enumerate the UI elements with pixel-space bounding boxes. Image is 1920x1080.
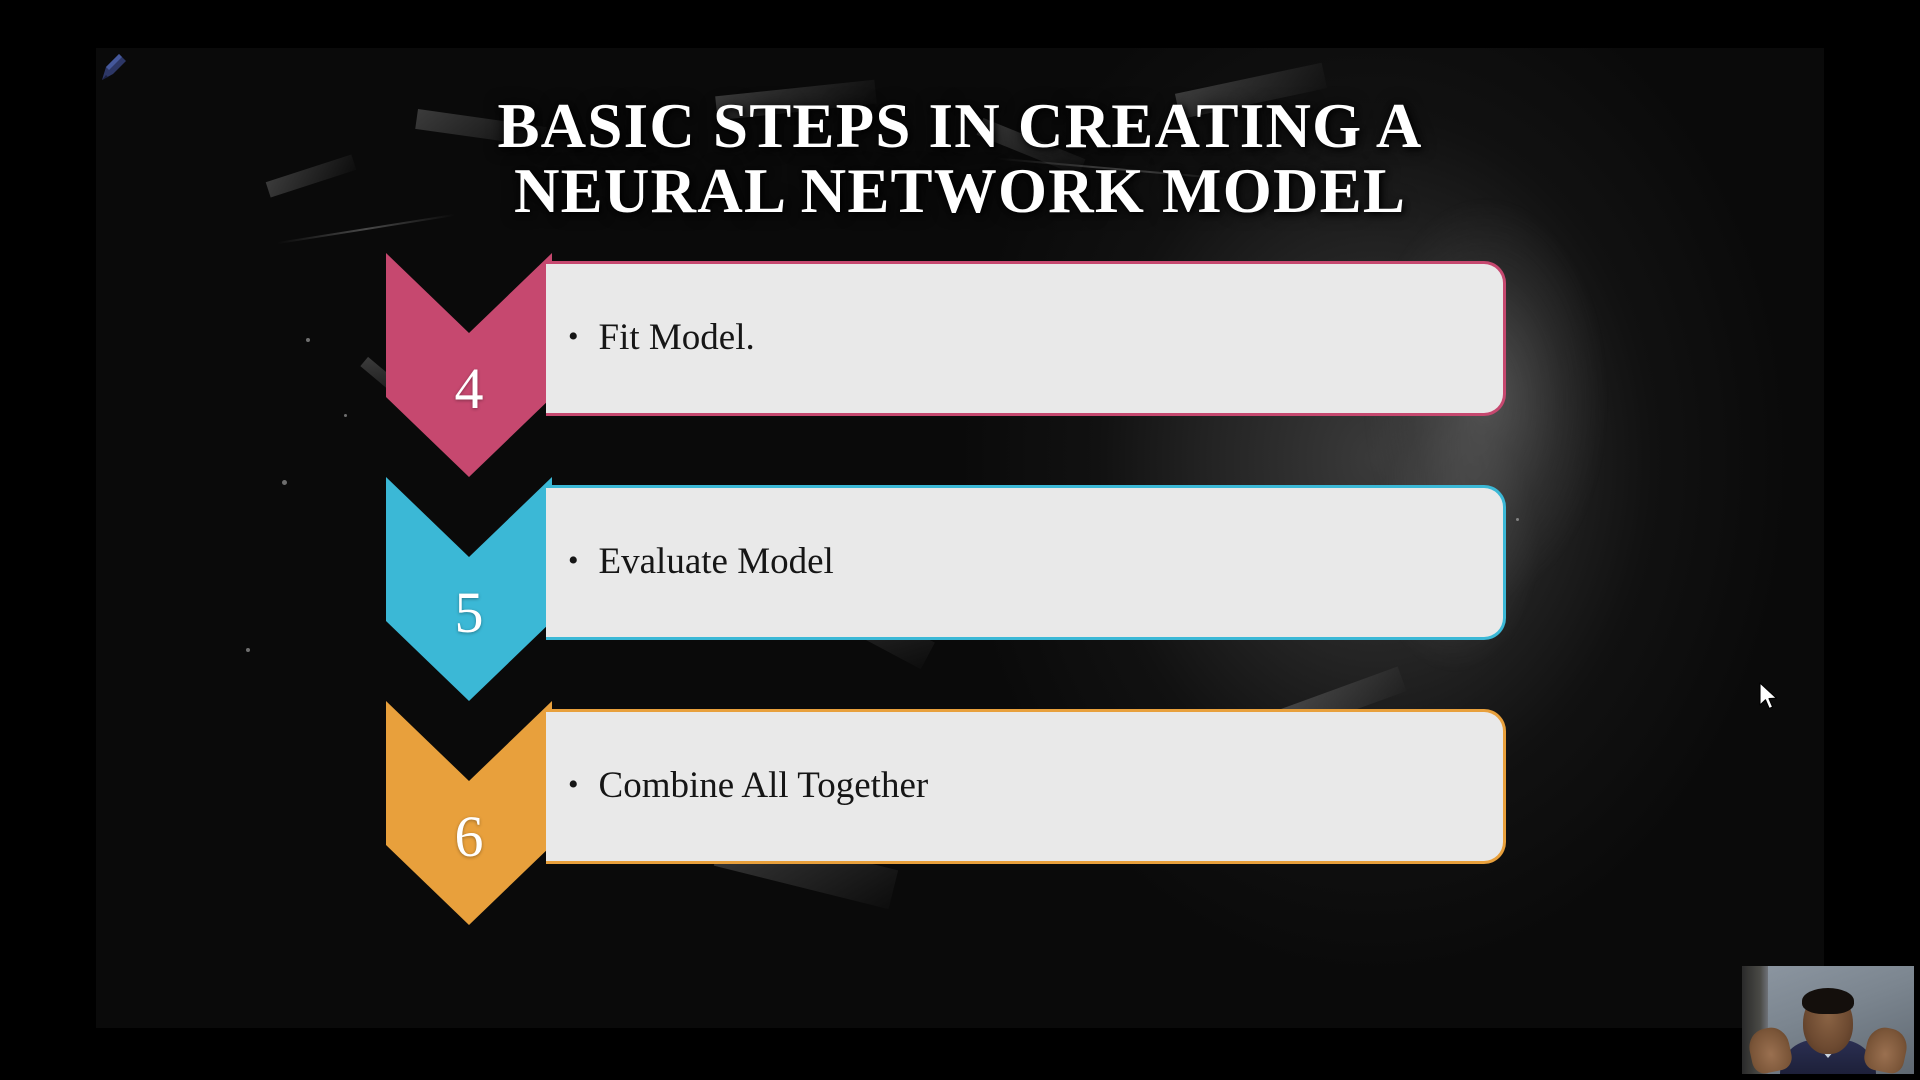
step-chevron-4: 4 (386, 253, 552, 477)
background-speck (246, 648, 250, 652)
steps-list: 4 • Fit Model. 5 (386, 253, 1506, 925)
bullet-point-icon: • (568, 770, 579, 800)
presenter-webcam[interactable] (1742, 966, 1914, 1074)
step-number-6: 6 (386, 808, 552, 866)
presentation-slide: BASIC STEPS IN CREATING A NEURAL NETWORK… (96, 48, 1824, 1028)
background-speck (1516, 518, 1519, 521)
bullet-point-icon: • (568, 546, 579, 576)
slide-title: BASIC STEPS IN CREATING A NEURAL NETWORK… (96, 94, 1824, 224)
video-player-surface: BASIC STEPS IN CREATING A NEURAL NETWORK… (0, 0, 1920, 1080)
pen-icon[interactable] (98, 50, 132, 84)
step-row: 5 • Evaluate Model (386, 477, 1506, 701)
step-row: 6 • Combine All Together (386, 701, 1506, 925)
step-bullet-line: • Evaluate Model (546, 542, 834, 583)
step-chevron-5: 5 (386, 477, 552, 701)
step-panel-5[interactable]: • Evaluate Model (546, 485, 1506, 640)
step-row: 4 • Fit Model. (386, 253, 1506, 477)
background-speck (282, 480, 287, 485)
step-panel-4[interactable]: • Fit Model. (546, 261, 1506, 416)
slide-title-line-2: NEURAL NETWORK MODEL (514, 156, 1406, 226)
step-number-5: 5 (386, 584, 552, 642)
step-text-5: Evaluate Model (599, 542, 834, 583)
presenter-hair (1802, 988, 1854, 1014)
step-bullet-line: • Fit Model. (546, 318, 755, 359)
step-text-6: Combine All Together (599, 766, 929, 807)
background-speck (306, 338, 310, 342)
step-bullet-line: • Combine All Together (546, 766, 928, 807)
step-number-4: 4 (386, 360, 552, 418)
background-speck (344, 414, 347, 417)
step-panel-6[interactable]: • Combine All Together (546, 709, 1506, 864)
bullet-point-icon: • (568, 322, 579, 352)
step-text-4: Fit Model. (599, 318, 755, 359)
step-chevron-6: 6 (386, 701, 552, 925)
slide-title-line-1: BASIC STEPS IN CREATING A (497, 91, 1422, 161)
